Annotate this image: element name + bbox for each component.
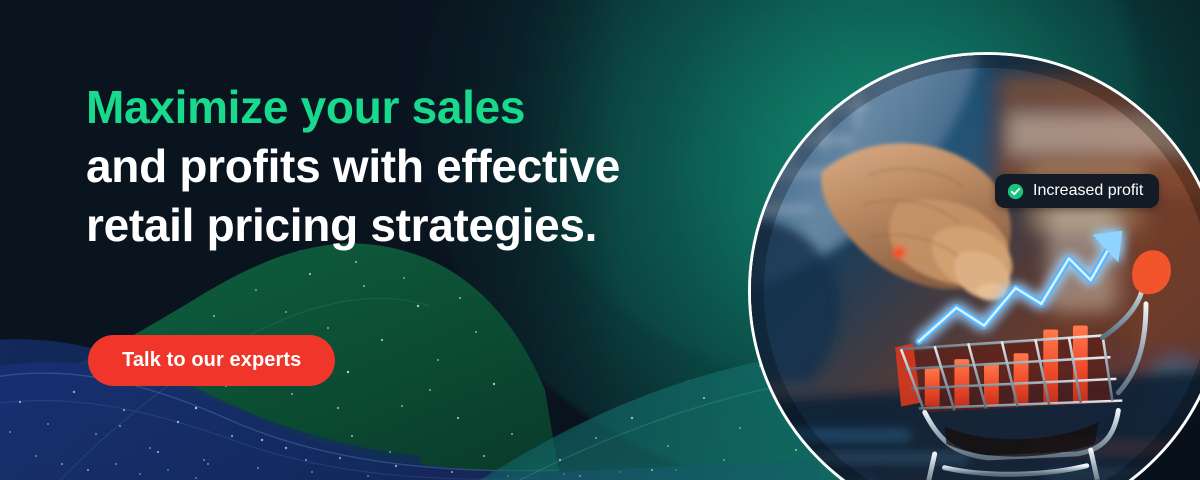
marketing-banner: Maximize your sales and profits with eff…	[0, 0, 1200, 480]
page-title: Maximize your sales and profits with eff…	[86, 78, 706, 255]
status-badge-label: Increased profit	[1033, 182, 1143, 200]
shopping-cart-growth-photo	[751, 55, 1200, 480]
status-badge: Increased profit	[995, 174, 1159, 208]
check-circle-icon	[1007, 183, 1024, 200]
headline-line-accent: Maximize your sales	[86, 78, 706, 137]
headline-line-3: retail pricing strategies.	[86, 196, 706, 255]
hero-photo-circle	[748, 52, 1200, 480]
headline-line-2: and profits with effective	[86, 137, 706, 196]
talk-to-experts-button[interactable]: Talk to our experts	[88, 335, 335, 386]
